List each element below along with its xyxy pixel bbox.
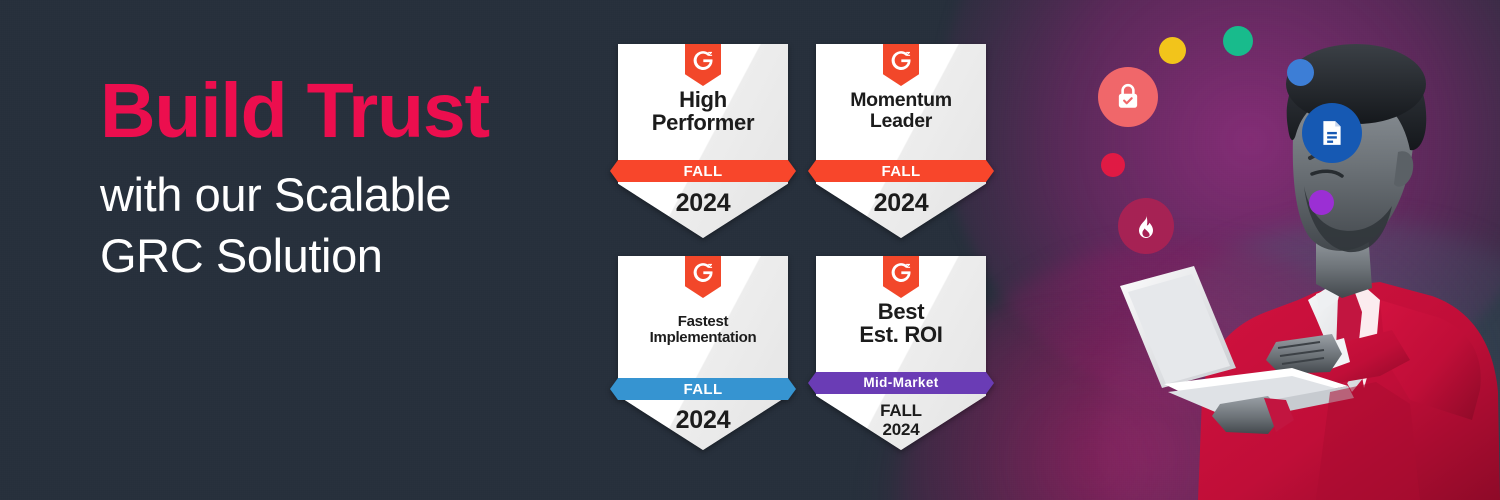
headline-primary: Build Trust	[100, 74, 580, 149]
badge-title-high-performer: High Performer	[646, 88, 760, 135]
badge-year-line: 2024	[882, 420, 919, 439]
yellow-dot	[1159, 37, 1186, 64]
document-badge-circle	[1302, 103, 1362, 163]
badge-content: Momentum Leader FALL 2024	[816, 44, 986, 238]
g2-badge-high-performer[interactable]: High Performer FALL 2024	[618, 44, 788, 238]
badge-ribbon-label: Mid-Market	[863, 376, 938, 390]
badge-ribbon-label: FALL	[683, 382, 722, 397]
badge-year-line: 2024	[676, 406, 731, 434]
badge-content: Best Est. ROI Mid-Market FALL2024	[816, 256, 986, 450]
badge-title-fastest-implementation: Fastest Implementation	[644, 314, 763, 346]
crimson-dot	[1101, 153, 1125, 177]
headline-secondary: with our Scalable GRC Solution	[100, 165, 580, 285]
badge-year-high-performer: 2024	[618, 189, 788, 218]
badge-title-line-2: Est. ROI	[859, 322, 942, 347]
badge-content: High Performer FALL 2024	[618, 44, 788, 238]
badge-title-line-2: Performer	[652, 110, 754, 135]
badge-title-line-1: Fastest	[678, 313, 728, 330]
blue-small-dot	[1287, 59, 1314, 86]
g2-logo-icon	[883, 256, 919, 298]
g2-badge-momentum-leader[interactable]: Momentum Leader FALL 2024	[816, 44, 986, 238]
badge-year-line: FALL	[880, 401, 922, 420]
headline-secondary-line-1: with our Scalable	[100, 168, 451, 221]
badge-year-line: 2024	[676, 189, 731, 217]
g2-logo-icon	[685, 256, 721, 298]
badge-title-best-est-roi: Best Est. ROI	[853, 300, 948, 347]
g2-logo-icon	[883, 44, 919, 86]
g2-badge-best-est-roi[interactable]: Best Est. ROI Mid-Market FALL2024	[816, 256, 986, 450]
badge-title-line-2: Leader	[870, 110, 932, 132]
hero-banner: Build Trust with our Scalable GRC Soluti…	[0, 0, 1500, 500]
flame-badge-circle	[1118, 198, 1174, 254]
badge-title-line-1: Momentum	[850, 89, 952, 111]
badge-ribbon-best-est-roi: Mid-Market	[808, 372, 994, 394]
lock-badge-circle	[1098, 67, 1158, 127]
badge-ribbon-momentum-leader: FALL	[808, 160, 994, 182]
badge-ribbon-wrap: FALL	[808, 160, 994, 182]
badge-ribbon-label: FALL	[881, 164, 920, 179]
badge-year-line: 2024	[874, 189, 929, 217]
badge-ribbon-wrap: Mid-Market	[808, 372, 994, 394]
g2-logo-icon	[685, 44, 721, 86]
g2-badge-grid: High Performer FALL 2024 Momentum	[618, 44, 990, 450]
badge-title-line-1: High	[679, 87, 727, 112]
lock-icon	[1115, 83, 1141, 111]
badge-ribbon-wrap: FALL	[610, 160, 796, 182]
g2-badge-fastest-implementation[interactable]: Fastest Implementation FALL 2024	[618, 256, 788, 450]
badge-ribbon-label: FALL	[683, 164, 722, 179]
green-dot	[1223, 26, 1253, 56]
badge-ribbon-wrap: FALL	[610, 378, 796, 400]
purple-dot	[1309, 190, 1334, 215]
badge-title-momentum-leader: Momentum Leader	[844, 90, 958, 131]
headline-block: Build Trust with our Scalable GRC Soluti…	[100, 74, 580, 286]
badge-ribbon-high-performer: FALL	[610, 160, 796, 182]
flame-icon	[1134, 213, 1158, 239]
badge-year-momentum-leader: 2024	[816, 189, 986, 218]
headline-secondary-line-2: GRC Solution	[100, 229, 383, 282]
badge-year-best-est-roi: FALL2024	[816, 401, 986, 439]
badge-year-fastest-implementation: 2024	[618, 406, 788, 435]
document-icon	[1319, 119, 1345, 147]
badge-ribbon-fastest-implementation: FALL	[610, 378, 796, 400]
badge-title-line-2: Implementation	[650, 329, 757, 346]
illustration	[1080, 0, 1500, 500]
badge-content: Fastest Implementation FALL 2024	[618, 256, 788, 450]
badge-title-line-1: Best	[878, 299, 925, 324]
